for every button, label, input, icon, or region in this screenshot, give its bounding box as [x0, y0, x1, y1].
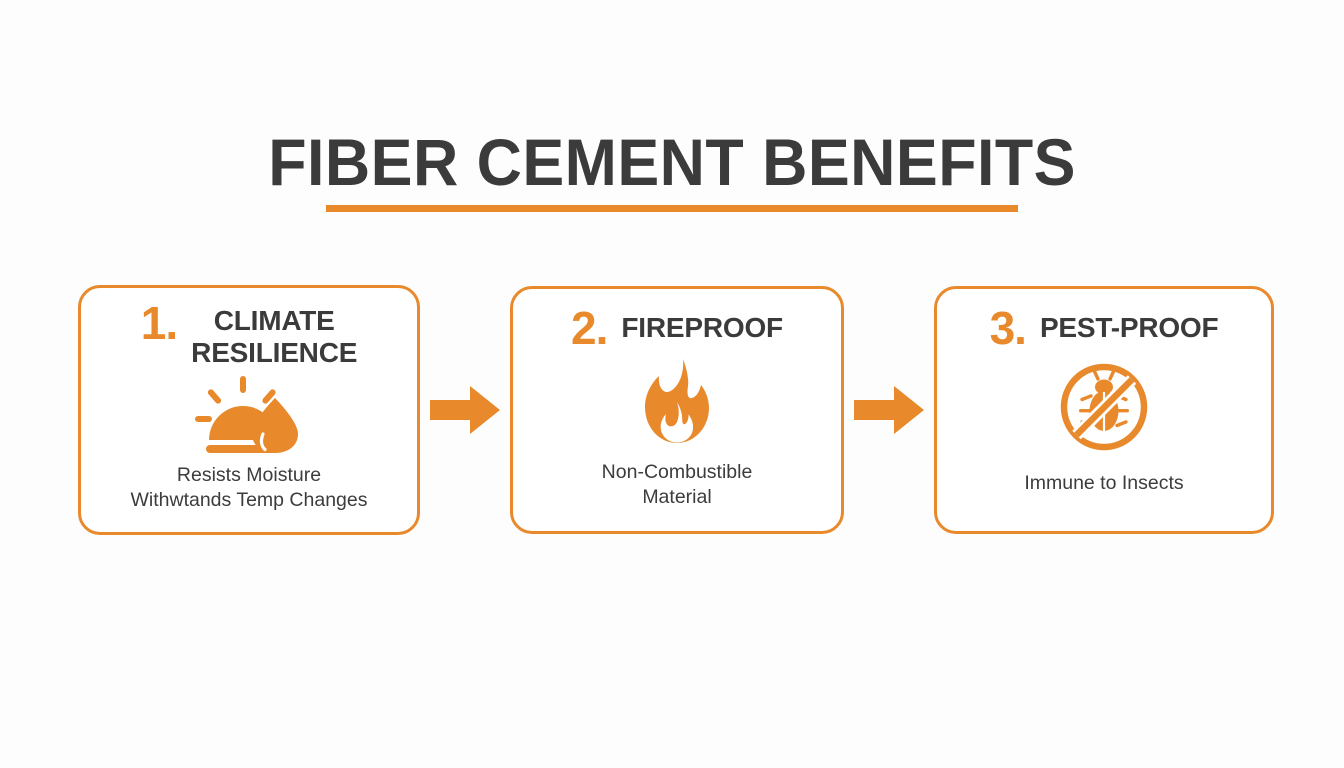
- benefits-row: 1. CLIMATE RESILIENCE: [78, 284, 1274, 536]
- connector-slot-1: [420, 284, 510, 536]
- card-title: FIREPROOF: [621, 312, 783, 344]
- sun-water-drop-icon: [81, 367, 417, 462]
- card-title: PEST-PROOF: [1040, 312, 1218, 344]
- step-number: 1.: [141, 302, 177, 344]
- card-title: CLIMATE RESILIENCE: [191, 302, 357, 369]
- flame-icon: [513, 343, 841, 459]
- arrow-right-icon: [854, 384, 924, 436]
- title-underline-rule: [326, 205, 1018, 212]
- benefit-card-climate-resilience[interactable]: 1. CLIMATE RESILIENCE: [78, 285, 420, 535]
- benefit-card-pest-proof[interactable]: 3. PEST-PROOF: [934, 286, 1274, 534]
- card-description: Resists Moisture Withwtands Temp Changes: [118, 463, 379, 532]
- card-description: Non-Combustible Material: [590, 460, 765, 531]
- connector-slot-2: [844, 284, 934, 536]
- page-title-block: FIBER CEMENT BENEFITS: [0, 128, 1344, 212]
- arrow-right-icon: [430, 384, 500, 436]
- card-header: 1. CLIMATE RESILIENCE: [81, 302, 417, 369]
- benefit-card-fireproof[interactable]: 2. FIREPROOF Non-Combustible Material: [510, 286, 844, 534]
- no-bug-icon: [937, 343, 1271, 471]
- page-title: FIBER CEMENT BENEFITS: [268, 128, 1076, 197]
- card-description: Immune to Insects: [1012, 471, 1195, 531]
